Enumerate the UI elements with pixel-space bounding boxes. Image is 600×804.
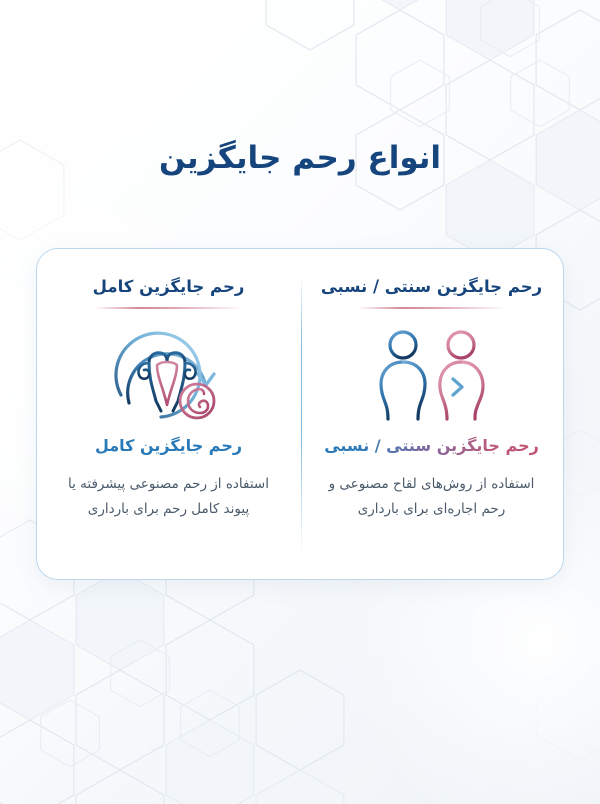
uterus-cycle-icon: [109, 325, 229, 421]
column-header-full: رحم جایگزین کامل: [93, 275, 245, 298]
column-label-traditional: رحم جایگزین سنتی / نسبی: [324, 435, 539, 457]
two-figures-transfer-icon: [373, 325, 491, 421]
column-full: رحم جایگزین کامل: [37, 249, 300, 579]
column-description-full: استفاده از رحم مصنوعی پیشرفته یا پیوند ک…: [61, 472, 276, 522]
page-title: انواع رحم جایگزین: [0, 138, 600, 180]
column-header-traditional: رحم جایگزین سنتی / نسبی: [321, 275, 542, 298]
column-label-full: رحم جایگزین کامل: [95, 435, 242, 457]
column-description-traditional: استفاده از روش‌های لقاح مصنوعی و رحم اجا…: [324, 472, 539, 522]
comparison-card: رحم جایگزین سنتی / نسبی: [36, 248, 564, 580]
header-underline: [357, 307, 507, 309]
column-traditional: رحم جایگزین سنتی / نسبی: [300, 249, 563, 579]
infographic-page: انواع رحم جایگزین رحم جایگزین سنتی / نسب…: [0, 0, 600, 804]
header-underline: [94, 307, 244, 309]
